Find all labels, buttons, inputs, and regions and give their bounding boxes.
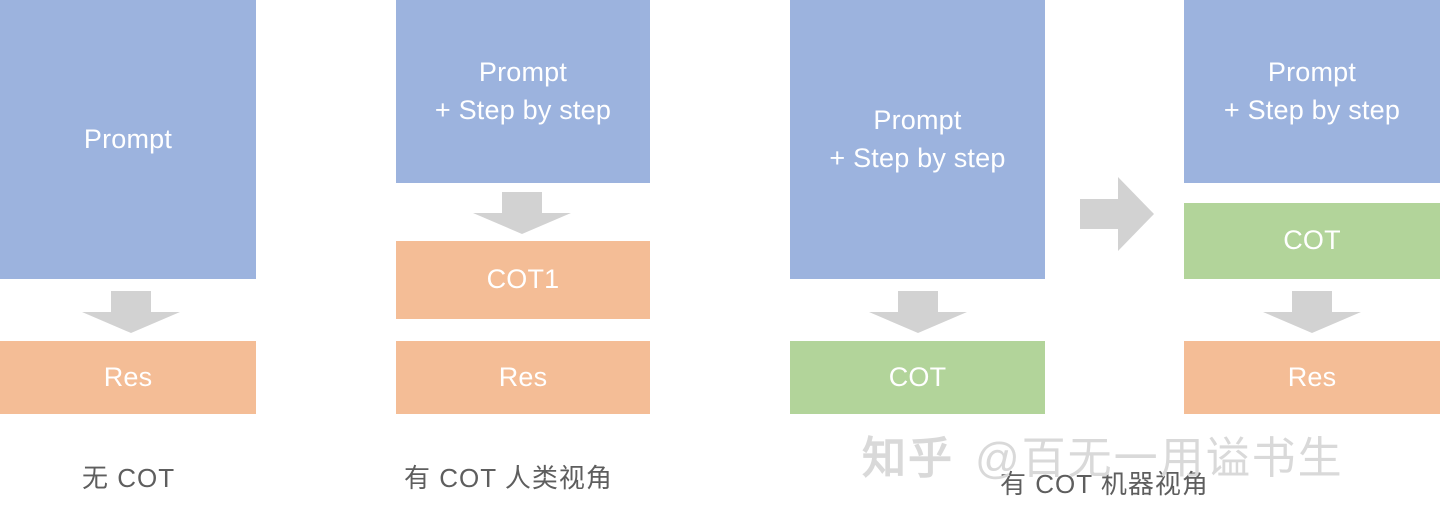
box-col1-prompt: Prompt <box>0 0 256 279</box>
box-col4-cot: COT <box>1184 203 1440 279</box>
box-col4-prompt-step: Prompt + Step by step <box>1184 0 1440 183</box>
box-col2-res: Res <box>396 341 650 414</box>
arrow-down-col4 <box>1263 291 1361 333</box>
arrow-down-col2 <box>473 192 571 234</box>
arrow-down-col1 <box>82 291 180 333</box>
watermark-handle: @百无一用谥书生 <box>975 422 1344 486</box>
box-col2-prompt-step: Prompt + Step by step <box>396 0 650 183</box>
box-col1-res: Res <box>0 341 256 414</box>
arrow-down-col3 <box>869 291 967 333</box>
box-col3-prompt-step: Prompt + Step by step <box>790 0 1045 279</box>
diagram-canvas: Prompt Res 无 COT Prompt + Step by step C… <box>0 0 1440 514</box>
watermark-site-logo: 知乎 <box>862 422 954 486</box>
caption-col1: 无 COT <box>82 458 175 495</box>
box-col2-cot1: COT1 <box>396 241 650 319</box>
caption-col2: 有 COT 人类视角 <box>404 458 613 495</box>
arrow-right-between <box>1080 177 1154 251</box>
box-col4-res: Res <box>1184 341 1440 414</box>
box-col3-cot: COT <box>790 341 1045 414</box>
